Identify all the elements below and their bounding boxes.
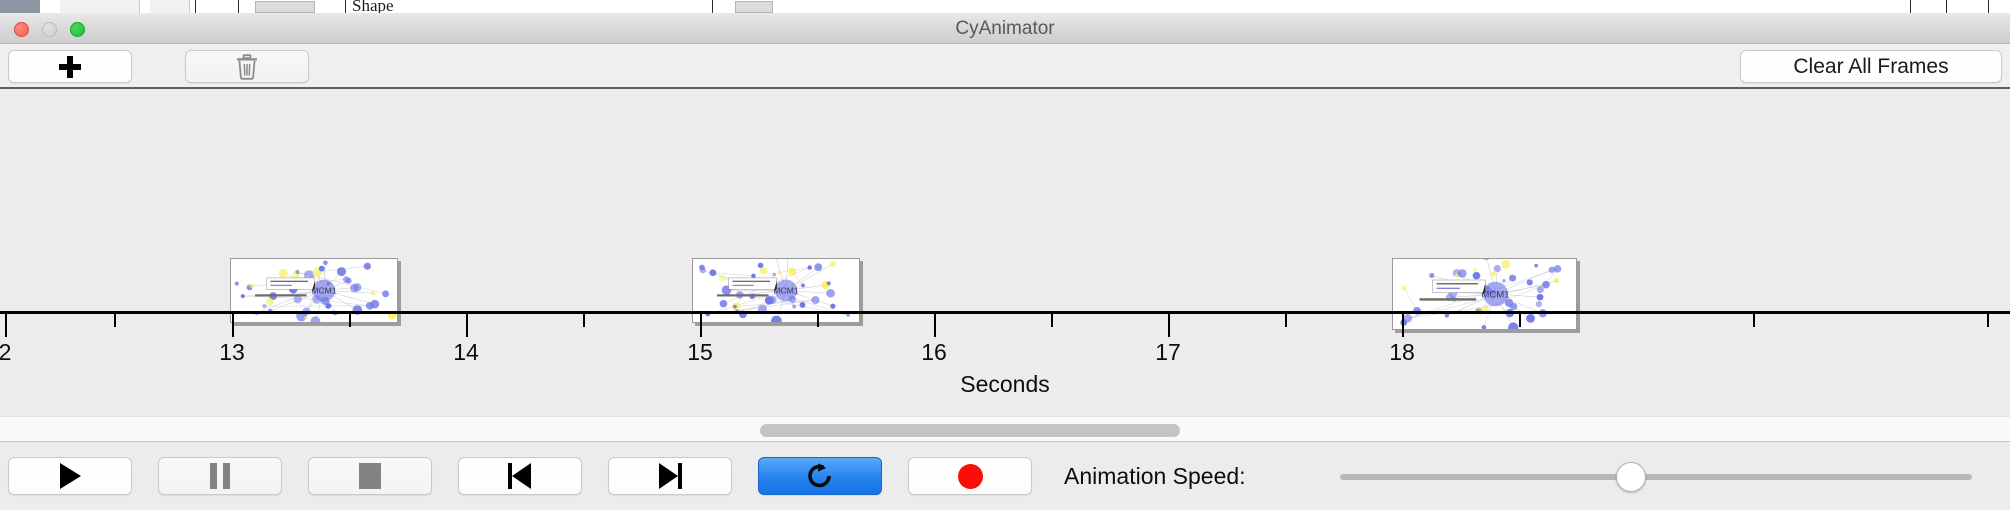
axis-tick-minor (817, 314, 819, 327)
background-divider (238, 0, 239, 13)
background-window-label: Shape (352, 0, 394, 13)
axis-tick-minor (1753, 314, 1755, 327)
animation-speed-slider[interactable] (1340, 474, 1972, 480)
delete-frame-button[interactable] (185, 50, 309, 83)
play-icon (60, 463, 81, 489)
axis-tick-major (5, 314, 7, 337)
scrollbar-thumb[interactable] (760, 424, 1180, 437)
axis-tick-label: 2 (0, 339, 11, 366)
axis-tick-minor (1519, 314, 1521, 327)
frame-thumbnail[interactable]: MCM1 (1392, 258, 1577, 330)
timeline-scrollbar[interactable] (0, 416, 2010, 442)
axis-tick-minor (583, 314, 585, 327)
background-window-titlebar-fragment (0, 0, 40, 13)
stop-icon (359, 463, 381, 489)
loop-icon (806, 462, 834, 490)
axis-tick-major (232, 314, 234, 337)
loop-button[interactable] (758, 457, 882, 495)
background-divider (1988, 0, 1989, 13)
axis-tick-label: 14 (453, 339, 479, 366)
axis-tick-label: 13 (219, 339, 245, 366)
background-divider (195, 0, 196, 13)
background-divider (712, 0, 713, 13)
background-divider (1946, 0, 1947, 13)
axis-tick-major (466, 314, 468, 337)
background-toolbar-segment (150, 0, 190, 13)
timeline-axis (0, 311, 2010, 314)
play-button[interactable] (8, 457, 132, 495)
trash-icon (235, 54, 259, 80)
skip-previous-icon (508, 463, 532, 489)
background-window-strip: Shape (0, 0, 2010, 13)
axis-tick-major (1168, 314, 1170, 337)
next-frame-button[interactable] (608, 457, 732, 495)
axis-tick-minor (1051, 314, 1053, 327)
pause-button[interactable] (158, 457, 282, 495)
axis-tick-minor (1285, 314, 1287, 327)
axis-tick-minor (1987, 314, 1989, 327)
timeline-panel[interactable]: MCM1 MCM1 MCM1 2131415161718 Seconds (0, 91, 2010, 416)
axis-tick-label: 15 (687, 339, 713, 366)
timeline-axis-title: Seconds (0, 371, 2010, 398)
plus-icon (59, 56, 81, 78)
slider-thumb[interactable] (1616, 462, 1646, 492)
animation-speed-label: Animation Speed: (1064, 443, 1246, 510)
titlebar: CyAnimator (0, 13, 2010, 44)
axis-tick-major (934, 314, 936, 337)
axis-tick-minor (114, 314, 116, 327)
skip-next-icon (658, 463, 682, 489)
axis-tick-minor (349, 314, 351, 327)
background-toolbar-segment (60, 0, 140, 13)
axis-tick-label: 18 (1389, 339, 1415, 366)
axis-tick-label: 16 (921, 339, 947, 366)
pause-icon (210, 463, 230, 489)
clear-all-frames-button[interactable]: Clear All Frames (1740, 50, 2002, 83)
slider-track[interactable] (1340, 474, 1972, 480)
axis-tick-major (1402, 314, 1404, 337)
axis-tick-label: 17 (1155, 339, 1181, 366)
playback-toolbar: Animation Speed: (0, 443, 2010, 510)
background-button-fragment (735, 1, 773, 13)
cyanimator-window: Shape CyAnimator Clear All (0, 0, 2010, 510)
add-frame-button[interactable] (8, 50, 132, 83)
clear-all-frames-label: Clear All Frames (1793, 55, 1948, 79)
stop-button[interactable] (308, 457, 432, 495)
record-icon (958, 464, 983, 489)
record-button[interactable] (908, 457, 1032, 495)
previous-frame-button[interactable] (458, 457, 582, 495)
toolbar: Clear All Frames (0, 44, 2010, 89)
background-button-fragment (255, 1, 315, 13)
network-preview: MCM1 (1393, 259, 1576, 329)
window-title: CyAnimator (0, 13, 2010, 44)
background-divider (1910, 0, 1911, 13)
axis-tick-major (700, 314, 702, 337)
background-divider (345, 0, 346, 13)
